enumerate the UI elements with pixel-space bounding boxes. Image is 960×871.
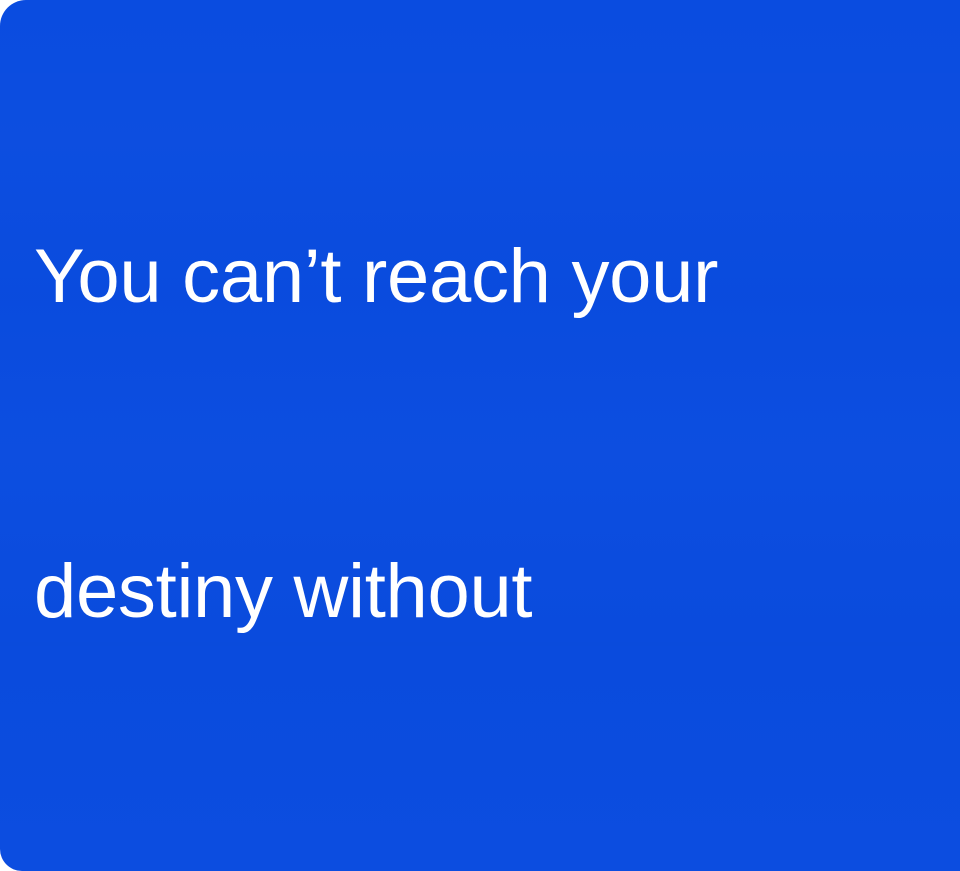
quote-text-block: You can’t reach your destiny without opp… xyxy=(34,14,952,871)
message-bubble[interactable]: You can’t reach your destiny without opp… xyxy=(0,0,960,871)
quote-line-3: opposition, without xyxy=(34,854,952,871)
quote-line-1: You can’t reach your xyxy=(34,224,952,329)
screenshot-root: You can’t reach your destiny without opp… xyxy=(0,0,960,871)
quote-line-2: destiny without xyxy=(34,539,952,644)
